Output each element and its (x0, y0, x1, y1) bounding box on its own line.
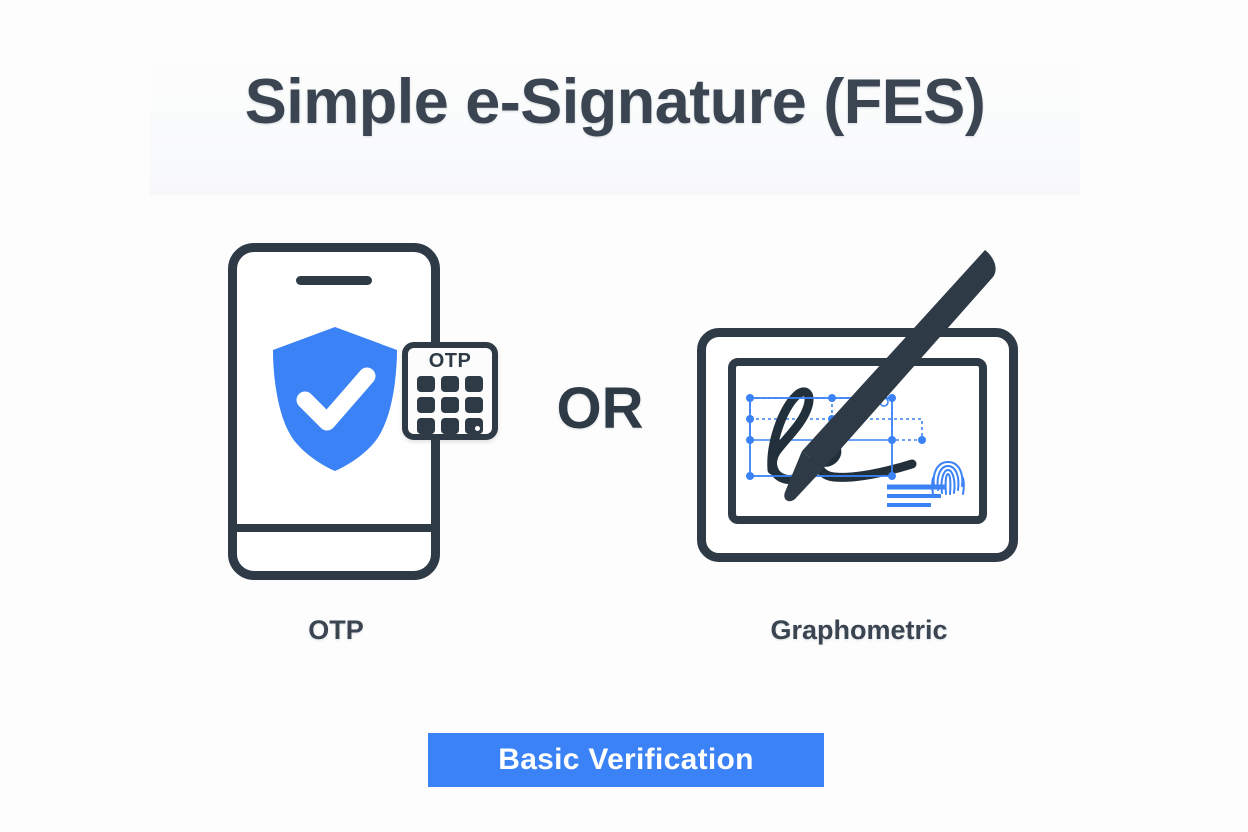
otp-key (417, 397, 435, 413)
stylus-pen-icon (690, 245, 1025, 565)
or-divider-label: OR (535, 375, 665, 442)
otp-keypad-card: OTP (402, 342, 498, 440)
otp-key-dot (475, 426, 480, 431)
otp-key (465, 376, 483, 392)
page-title: Simple e-Signature (FES) (150, 66, 1080, 138)
shield-check-icon (269, 324, 401, 474)
otp-key (417, 418, 435, 434)
option-label-graphometric: Graphometric (700, 615, 1018, 646)
otp-keypad-grid (417, 376, 483, 434)
otp-key (441, 376, 459, 392)
otp-key (441, 397, 459, 413)
otp-card-label: OTP (408, 350, 492, 373)
status-badge-label: Basic Verification (498, 743, 754, 777)
otp-key (465, 397, 483, 413)
diagram-canvas: Simple e-Signature (FES) OTP (0, 0, 1248, 832)
graphometric-tablet-illustration (690, 245, 1025, 565)
otp-key-enter (465, 418, 483, 434)
otp-key (441, 418, 459, 434)
status-badge: Basic Verification (428, 733, 824, 787)
option-label-otp: OTP (234, 615, 438, 646)
phone-home-bar (237, 524, 431, 532)
phone-speaker-notch (296, 276, 372, 285)
otp-key (417, 376, 435, 392)
